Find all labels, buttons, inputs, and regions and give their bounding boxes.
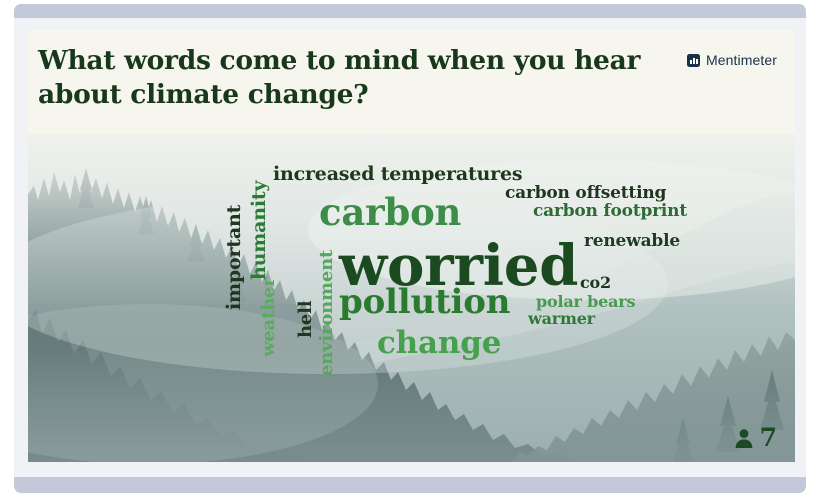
slide-title-band: What words come to mind when you hear ab… <box>28 30 795 134</box>
word-cloud-word: carbon footprint <box>533 203 687 220</box>
word-cloud-word: pollution <box>339 285 510 319</box>
participant-counter: 7 <box>733 425 777 450</box>
word-cloud-word: polar bears <box>536 294 635 310</box>
window-chrome-bottom-bar <box>14 477 806 493</box>
word-cloud-word: increased temperatures <box>273 165 522 184</box>
brand-name: Mentimeter <box>706 52 777 68</box>
presentation-slide: What words come to mind when you hear ab… <box>28 30 795 462</box>
word-cloud-word: important <box>225 205 244 310</box>
bar-chart-icon <box>687 54 700 67</box>
participant-count: 7 <box>760 425 777 450</box>
word-cloud-word: environment <box>318 250 336 376</box>
word-cloud-word: carbon offsetting <box>505 185 666 202</box>
word-cloud-word: co2 <box>580 275 611 291</box>
word-cloud-word: renewable <box>584 233 680 250</box>
word-cloud-word: change <box>377 328 501 359</box>
page-title: What words come to mind when you hear ab… <box>38 44 648 112</box>
word-cloud-word: hell <box>297 301 315 338</box>
word-cloud-word: humanity <box>250 181 269 280</box>
word-cloud-word: warmer <box>528 311 595 327</box>
word-cloud-word: carbon <box>319 194 461 231</box>
screenshot-viewport: What words come to mind when you hear ab… <box>0 0 820 499</box>
mentimeter-logo: Mentimeter <box>687 52 777 68</box>
person-icon <box>733 427 755 449</box>
word-cloud-word: weather <box>260 277 278 357</box>
